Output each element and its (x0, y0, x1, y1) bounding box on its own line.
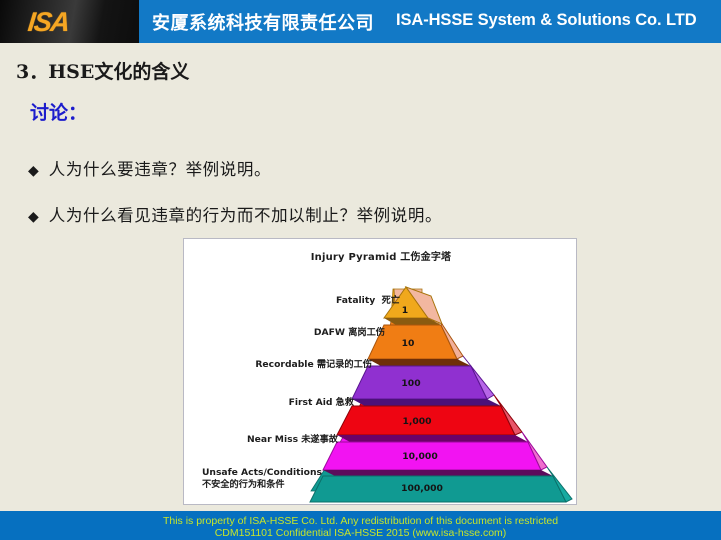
injury-pyramid-image: Injury Pyramid 工伤金字塔 (183, 238, 577, 505)
bullet-item: ◆ 人为什么看见违章的行为而不加以制止？举例说明。 (28, 202, 442, 226)
pyramid-label-first-aid: First Aid 急救 (289, 397, 354, 409)
pyramid-cap-dafw (368, 359, 471, 366)
footer-copyright-line: This is property of ISA-HSSE Co. Ltd. An… (0, 515, 721, 527)
pyramid-count-fatality: 1 (390, 305, 420, 316)
pyramid-label-recordable: Recordable 需记录的工伤 (255, 359, 372, 371)
section-subhead: 讨论： (30, 98, 87, 125)
pyramid-label-unsafe-acts: Unsafe Acts/Conditions不安全的行为和条件 (202, 467, 322, 491)
isa-logo: ISA (26, 7, 70, 38)
bullet-item: ◆ 人为什么要违章？举例说明。 (28, 156, 271, 180)
company-logo-block: ISA (0, 0, 139, 43)
pyramid-graphic (184, 239, 577, 505)
pyramid-label-dafw: DAFW 离岗工伤 (314, 327, 385, 339)
footer-confidential-line: CDM151101 Confidential ISA-HSSE 2015 (ww… (0, 527, 721, 539)
pyramid-count-unsafe-acts: 100,000 (386, 483, 458, 494)
pyramid-cap-firstaid (337, 435, 528, 442)
pyramid-count-near-miss: 10,000 (389, 451, 451, 462)
bullet-text: 人为什么要违章？举例说明。 (49, 156, 271, 180)
pyramid-count-first-aid: 1,000 (389, 416, 445, 427)
slide-canvas: ISA 安厦系统科技有限责任公司 ISA-HSSE System & Solut… (0, 0, 721, 540)
pyramid-cap-recordable (352, 399, 501, 406)
pyramid-cap-nearmiss (323, 470, 553, 476)
pyramid-count-recordable: 100 (388, 378, 434, 389)
header-title-english: ISA-HSSE System & Solutions Co. LTD (396, 11, 697, 30)
page-title: 3．HSE文化的含义 (16, 57, 189, 84)
diamond-bullet-icon: ◆ (28, 210, 39, 224)
diamond-bullet-icon: ◆ (28, 164, 39, 178)
header-title-chinese: 安厦系统科技有限责任公司 (152, 9, 374, 35)
pyramid-count-dafw: 10 (388, 338, 428, 349)
slide-footer: This is property of ISA-HSSE Co. Ltd. An… (0, 511, 721, 540)
slide-header: ISA 安厦系统科技有限责任公司 ISA-HSSE System & Solut… (0, 0, 721, 43)
bullet-text: 人为什么看见违章的行为而不加以制止？举例说明。 (49, 202, 442, 226)
pyramid-label-near-miss: Near Miss 未遂事故 (247, 434, 338, 446)
